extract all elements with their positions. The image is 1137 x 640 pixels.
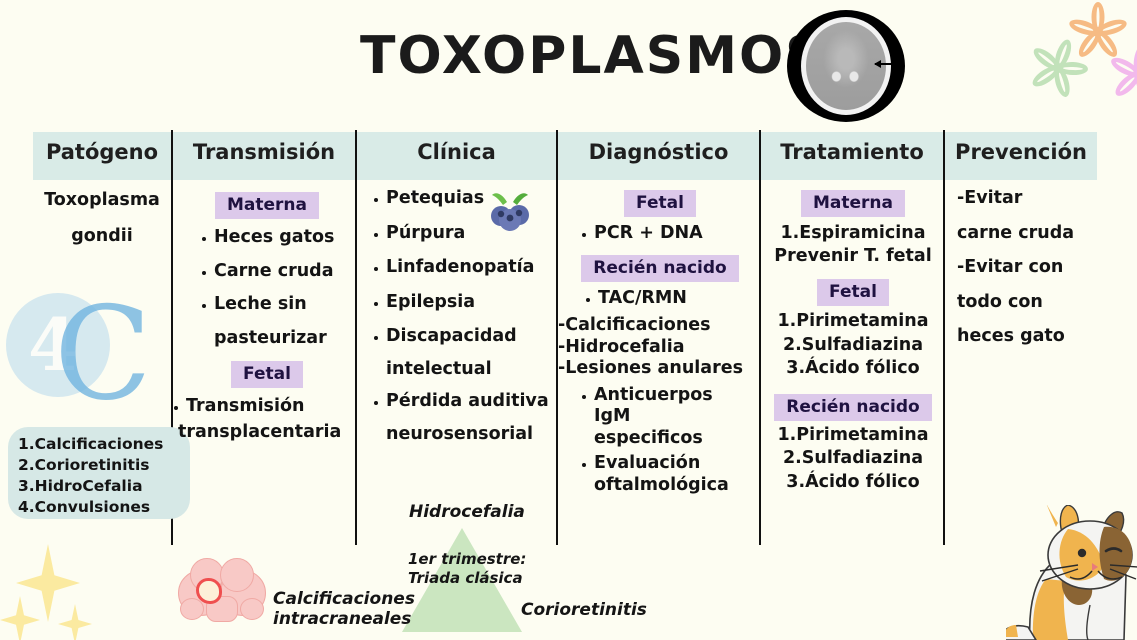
four-c-letter: C (54, 291, 152, 419)
page-title: TOXOPLASMOSIS (360, 26, 760, 86)
blueberry-muffin-rash-photo (207, 9, 325, 121)
triad-triangle-line2: Triada clásica (408, 570, 523, 587)
cell-text: Carne cruda (200, 263, 356, 281)
cell-text: -Lesiones anulares (558, 360, 758, 378)
cell-text: 1.Espiramicina (763, 225, 943, 243)
cell-text: Heces gatos (200, 229, 356, 247)
cell-text: 2.Sulfadiazina (763, 450, 943, 468)
subheading-pill: Recién nacido (774, 394, 931, 421)
cell-text: 2.Sulfadiazina (763, 337, 943, 355)
triad-left-line2: intracraneales (273, 610, 411, 630)
sparkle-small-icon (0, 596, 40, 640)
column-header-transmision: Transmisión (173, 140, 355, 164)
cell-text: todo con (957, 294, 1117, 312)
brain-lobe (220, 558, 254, 592)
triad-right-label: Corioretinitis (521, 601, 647, 621)
cell-text: -Evitar (957, 190, 1117, 208)
cell-text: Discapacidad (372, 328, 562, 346)
cell-text: -Evitar con (957, 259, 1117, 277)
column-body-clinica: Petequias Púrpura Linfadenopatía Epileps… (372, 190, 562, 450)
cell-text: 1.Pirimetamina (763, 427, 943, 445)
cell-text: gondii (33, 228, 171, 246)
subheading-pill: Fetal (817, 279, 889, 306)
sparkle-tiny-icon (58, 604, 92, 640)
triad-top-label: Hidrocefalia (409, 503, 525, 523)
cell-text: neurosensorial (386, 426, 562, 444)
flower-pink-icon (1112, 48, 1137, 100)
column-header-prevencion: Prevención (945, 140, 1097, 164)
column-header-diagnostico: Diagnóstico (558, 140, 759, 164)
column-body-transmision: Materna Heces gatos Carne cruda Leche si… (178, 192, 356, 448)
cell-text: Púrpura (372, 225, 562, 243)
subheading-pill: Recién nacido (581, 255, 738, 282)
cell-text: Leche sin (200, 296, 356, 314)
flower-orange-icon (1072, 6, 1124, 58)
cell-text: Evaluación (580, 455, 758, 473)
cell-text: Prevenir T. fetal (763, 248, 943, 266)
subheading-pill: Materna (801, 190, 905, 217)
four-c-item: 4.Convulsiones (18, 498, 190, 516)
brain-coronal-illustration (176, 556, 268, 622)
column-divider (759, 130, 761, 545)
column-header-patogeno: Patógeno (33, 140, 171, 164)
cell-text: 3.Ácido fólico (763, 474, 943, 492)
cell-text: heces gato (957, 328, 1117, 346)
cell-text: PCR + DNA (580, 225, 758, 243)
flower-green-icon (1032, 42, 1084, 94)
infographic-canvas: TOXOPLASMOSIS Patógeno Transmisión Clíni… (0, 0, 1137, 640)
cell-text: Petequias (372, 190, 562, 208)
subheading-pill: Materna (215, 192, 319, 219)
cell-text: Linfadenopatía (372, 259, 562, 277)
triad-triangle-line1: 1er trimestre: (408, 551, 526, 568)
four-c-item: 2.Corioretinitis (18, 456, 190, 474)
calico-cat-illustration (1006, 505, 1137, 640)
subheading-pill: Fetal (624, 190, 696, 217)
four-c-item: 3.HidroCefalia (18, 477, 190, 495)
column-body-prevencion: -Evitar carne cruda -Evitar con todo con… (957, 190, 1117, 353)
four-c-list-box: 1.Calcificaciones 2.Corioretinitis 3.Hid… (8, 427, 190, 519)
four-c-item: 1.Calcificaciones (18, 435, 190, 453)
cell-text: pasteurizar (214, 330, 356, 348)
ct-lesion-arrow-icon (875, 63, 901, 65)
triad-left-line1: Calcificaciones (273, 590, 415, 610)
four-c-watermark: 4 C (2, 287, 162, 417)
subheading-pill: Fetal (231, 361, 303, 388)
column-header-clinica: Clínica (357, 140, 556, 164)
cell-text: Anticuerpos (580, 387, 758, 405)
cell-text: -Calcificaciones (558, 317, 758, 335)
column-divider (943, 130, 945, 545)
cell-text: Toxoplasma (33, 192, 171, 210)
cell-text: Epilepsia (372, 294, 562, 312)
cell-text: oftalmológica (594, 477, 758, 495)
cell-text: especificos (594, 430, 758, 448)
column-body-patogeno: Toxoplasma gondii (33, 192, 171, 252)
column-body-tratamiento: Materna 1.Espiramicina Prevenir T. fetal… (763, 190, 943, 498)
ct-brain-scan-photo (787, 10, 905, 122)
column-header-tratamiento: Tratamiento (761, 140, 943, 164)
brain-lobe (240, 598, 264, 620)
cell-text: Transmisión (172, 398, 356, 416)
cell-text: carne cruda (957, 225, 1117, 243)
cell-text: transplacentaria (178, 424, 356, 442)
cell-text: IgM (594, 408, 758, 426)
sparkle-large-icon (16, 544, 80, 622)
cell-text: 3.Ácido fólico (763, 360, 943, 378)
column-body-diagnostico: Fetal PCR + DNA Recién nacido TAC/RMN -C… (562, 190, 758, 501)
cell-text: TAC/RMN (584, 290, 758, 308)
cell-text: 1.Pirimetamina (763, 313, 943, 331)
brain-lobe (180, 598, 204, 620)
cell-text: Pérdida auditiva (372, 393, 562, 411)
cell-text: -Hidrocefalia (558, 339, 758, 357)
brain-calcification-lesion (196, 578, 222, 604)
cell-text: intelectual (386, 361, 562, 379)
